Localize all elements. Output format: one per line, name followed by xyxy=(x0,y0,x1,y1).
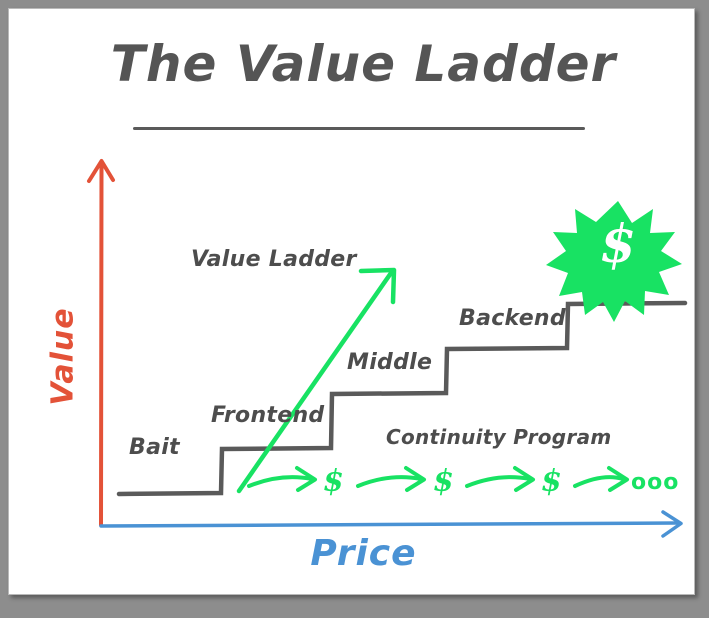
money-ellipsis: ooo xyxy=(631,470,679,495)
step-label-backend: Backend xyxy=(459,306,566,331)
value-ladder-staircase xyxy=(119,303,685,494)
step-label-middle: Middle xyxy=(347,350,432,375)
continuity-arrow-2 xyxy=(358,468,424,490)
money-symbol-2: $ xyxy=(433,464,454,499)
starburst-dollar-symbol: $ xyxy=(588,214,648,275)
title-underline xyxy=(133,127,585,130)
diagram-frame: The Value Ladder Value Price Value Ladde… xyxy=(8,8,695,595)
money-symbol-3: $ xyxy=(541,464,562,499)
diagram-canvas: The Value Ladder Value Price Value Ladde… xyxy=(9,9,694,594)
money-symbol-1: $ xyxy=(323,464,344,499)
continuity-program-label: Continuity Program xyxy=(386,425,612,449)
x-axis-label: Price xyxy=(9,533,709,574)
continuity-arrow-3 xyxy=(467,468,533,490)
diagram-vector-layer xyxy=(9,9,709,618)
y-axis-arrow xyxy=(89,161,113,525)
value-ladder-trend-arrow xyxy=(239,270,394,491)
step-label-frontend: Frontend xyxy=(211,403,325,428)
y-axis-label: Value xyxy=(46,297,81,417)
step-label-bait: Bait xyxy=(129,435,180,460)
trend-arrow-label: Value Ladder xyxy=(191,247,357,272)
continuity-arrow-4 xyxy=(575,468,627,490)
page-title: The Value Ladder xyxy=(9,35,709,93)
continuity-arrow-1 xyxy=(249,468,315,490)
